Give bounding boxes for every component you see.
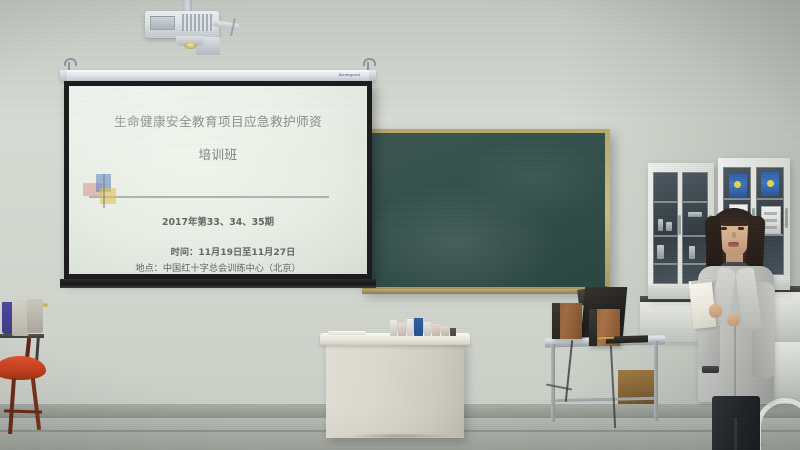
slide-session-line: 2017年第33、34、35期 xyxy=(69,214,367,228)
slide-title-line-2: 培训班 xyxy=(69,144,367,163)
motif-horizontal-rule xyxy=(89,196,329,198)
cabinet-bottle xyxy=(666,222,672,231)
hanging-cloth-gray-2 xyxy=(27,299,43,333)
cabinet-shelf-line xyxy=(654,235,677,237)
cabinet-shelf-line xyxy=(654,263,677,265)
projector-vent-grille xyxy=(182,14,214,31)
cabinet-blue-poster xyxy=(729,174,747,197)
speaker-right-driver xyxy=(589,309,597,346)
screen-brand-label: Borderguard xyxy=(339,73,360,77)
cabinet-shelf-line xyxy=(724,198,750,200)
av-table-leg-left xyxy=(551,344,555,422)
presenter-pants-gap xyxy=(734,418,737,450)
presenter xyxy=(690,204,788,450)
motif-vertical-rule xyxy=(103,174,105,208)
cabinet-blue-poster-2 xyxy=(761,172,779,196)
presenter-coat-seam xyxy=(734,314,736,400)
cabinet-bottle xyxy=(658,219,663,231)
supply-item-pink-label-box xyxy=(398,323,406,336)
lectern-front-lip xyxy=(328,331,366,335)
cabinet-shelf-line xyxy=(654,201,677,203)
supply-item-white-box-1 xyxy=(390,320,397,336)
poster-emblem-icon xyxy=(767,180,774,187)
slide-place-line: 地点：中国红十字总会训练中心（北京） xyxy=(69,260,367,274)
slide-time-line: 时间：11月19日至11月27日 xyxy=(69,244,367,258)
presenter-eye-left xyxy=(721,227,727,230)
projector-lens-icon xyxy=(184,42,197,49)
slide-decorative-motif xyxy=(81,174,145,208)
presenter-hand-left xyxy=(709,304,722,318)
slide-title-line-1: 生命健康安全教育项目应急救护师资 xyxy=(69,111,367,130)
lectern-supply-items xyxy=(390,316,456,336)
cabinet-left-glass-pane-1 xyxy=(653,172,678,284)
presenter-eye-right xyxy=(738,227,744,230)
presentation-slide: 生命健康安全教育项目应急救护师资 培训班 2017年第33、34、35期 时间：… xyxy=(69,86,367,274)
lectern-floor-shadow xyxy=(322,432,472,440)
projection-screen-surface: 生命健康安全教育项目应急救护师资 培训班 2017年第33、34、35期 时间：… xyxy=(69,86,367,274)
chalkboard-chalk-tray xyxy=(362,289,610,294)
classroom-photo: Borderguard 生命健康安全教育项目应急救护师资 培训班 2017年第3… xyxy=(0,0,800,450)
cabinet-handle-left[interactable] xyxy=(678,215,681,235)
cabinet-shelf-line xyxy=(683,201,707,203)
projector-side-panel xyxy=(150,16,175,30)
cabinet-shelf-line xyxy=(757,198,783,200)
supply-item-dark-box xyxy=(450,328,456,336)
supply-item-white-bottle xyxy=(407,319,413,336)
lectern-body xyxy=(326,342,464,438)
projection-screen-weight-bar xyxy=(60,279,376,288)
poster-emblem-icon xyxy=(734,181,741,188)
presenter-mouth xyxy=(728,242,739,247)
cabinet-bottle xyxy=(657,245,664,259)
presenter-cuff-left xyxy=(702,366,719,373)
supply-item-white-box-2 xyxy=(424,322,431,336)
chalkboard-surface xyxy=(367,133,605,287)
green-chalkboard xyxy=(362,129,610,291)
supply-item-blue-box xyxy=(414,318,423,336)
supply-item-pink-box xyxy=(432,324,440,336)
presenter-nose xyxy=(732,232,736,238)
cloth-hanging-peg xyxy=(43,303,48,307)
presenter-hand-right xyxy=(727,314,740,326)
av-table-leg-right xyxy=(654,341,658,421)
supply-item-cream-box xyxy=(441,326,449,336)
projection-screen: 生命健康安全教育项目应急救护师资 培训班 2017年第33、34、35期 时间：… xyxy=(64,81,372,279)
speaker-left-driver xyxy=(552,303,560,339)
